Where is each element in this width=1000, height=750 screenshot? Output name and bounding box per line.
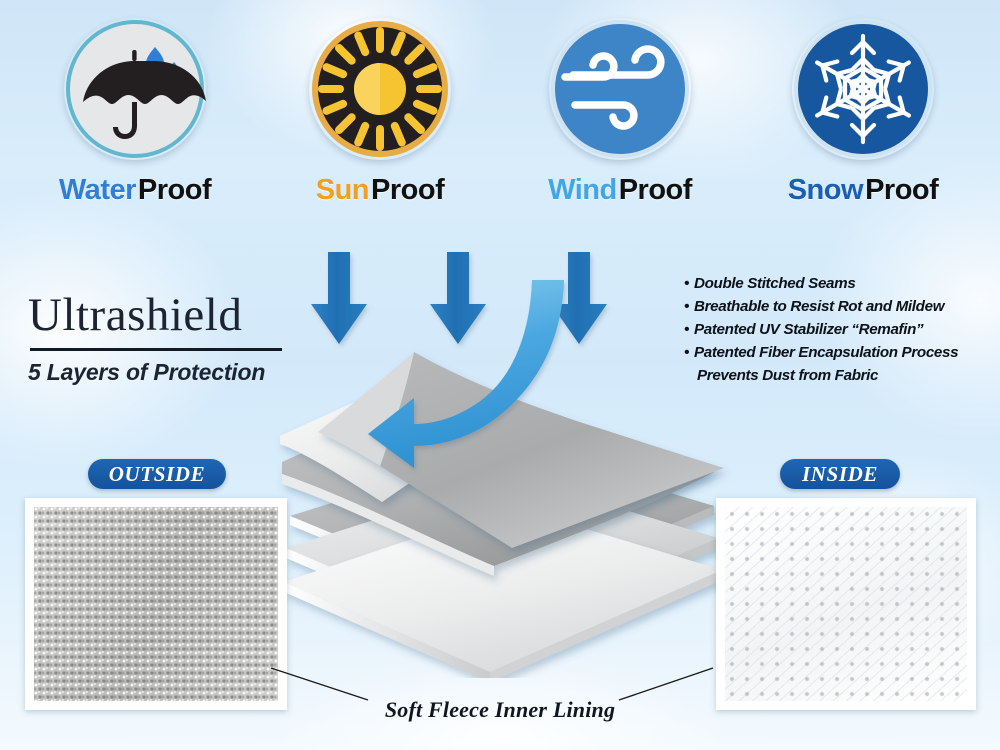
wind-icon: [549, 18, 691, 160]
feature-highlight-windproof: Wind: [548, 174, 617, 206]
feature-highlight-waterproof: Water: [59, 174, 136, 206]
feature-windproof[interactable]: WindProof: [495, 18, 745, 207]
feature-icon-row: WaterProof: [0, 18, 1000, 248]
brand-title: Ultrashield: [28, 292, 298, 339]
feature-waterproof[interactable]: WaterProof: [10, 18, 260, 207]
label-inside: INSIDE: [780, 459, 900, 489]
feature-plain-waterproof: Proof: [138, 174, 211, 206]
bullet-text: Patented Fiber Encapsulation Process: [694, 344, 958, 361]
feature-sunproof[interactable]: SunProof: [255, 18, 505, 207]
snowflake-icon: [792, 18, 934, 160]
brand-block: Ultrashield 5 Layers of Protection: [28, 292, 298, 386]
feature-snowproof[interactable]: SnowProof: [738, 18, 988, 207]
brand-divider: [30, 348, 282, 351]
feature-highlight-snowproof: Snow: [788, 174, 863, 206]
feature-plain-windproof: Proof: [619, 174, 692, 206]
stack-caption: Soft Fleece Inner Lining: [0, 697, 1000, 723]
feature-plain-snowproof: Proof: [865, 174, 938, 206]
feature-label-waterproof: WaterProof: [10, 174, 260, 207]
inside-fabric-texture: [725, 507, 967, 701]
feature-label-sunproof: SunProof: [255, 174, 505, 207]
feature-label-windproof: WindProof: [495, 174, 745, 207]
infographic-page: WaterProof: [0, 0, 1000, 750]
swatch-outside-fabric: [25, 498, 287, 710]
sun-icon: [309, 18, 451, 160]
five-layer-fabric-stack: [262, 248, 732, 678]
feature-highlight-sunproof: Sun: [316, 174, 369, 206]
feature-label-snowproof: SnowProof: [738, 174, 988, 207]
outside-fabric-texture: [34, 507, 278, 701]
feature-plain-sunproof: Proof: [371, 174, 444, 206]
swatch-inside-fabric: [716, 498, 976, 710]
umbrella-rain-icon: [64, 18, 206, 160]
brand-subtitle: 5 Layers of Protection: [28, 359, 298, 386]
label-outside: OUTSIDE: [88, 459, 226, 489]
